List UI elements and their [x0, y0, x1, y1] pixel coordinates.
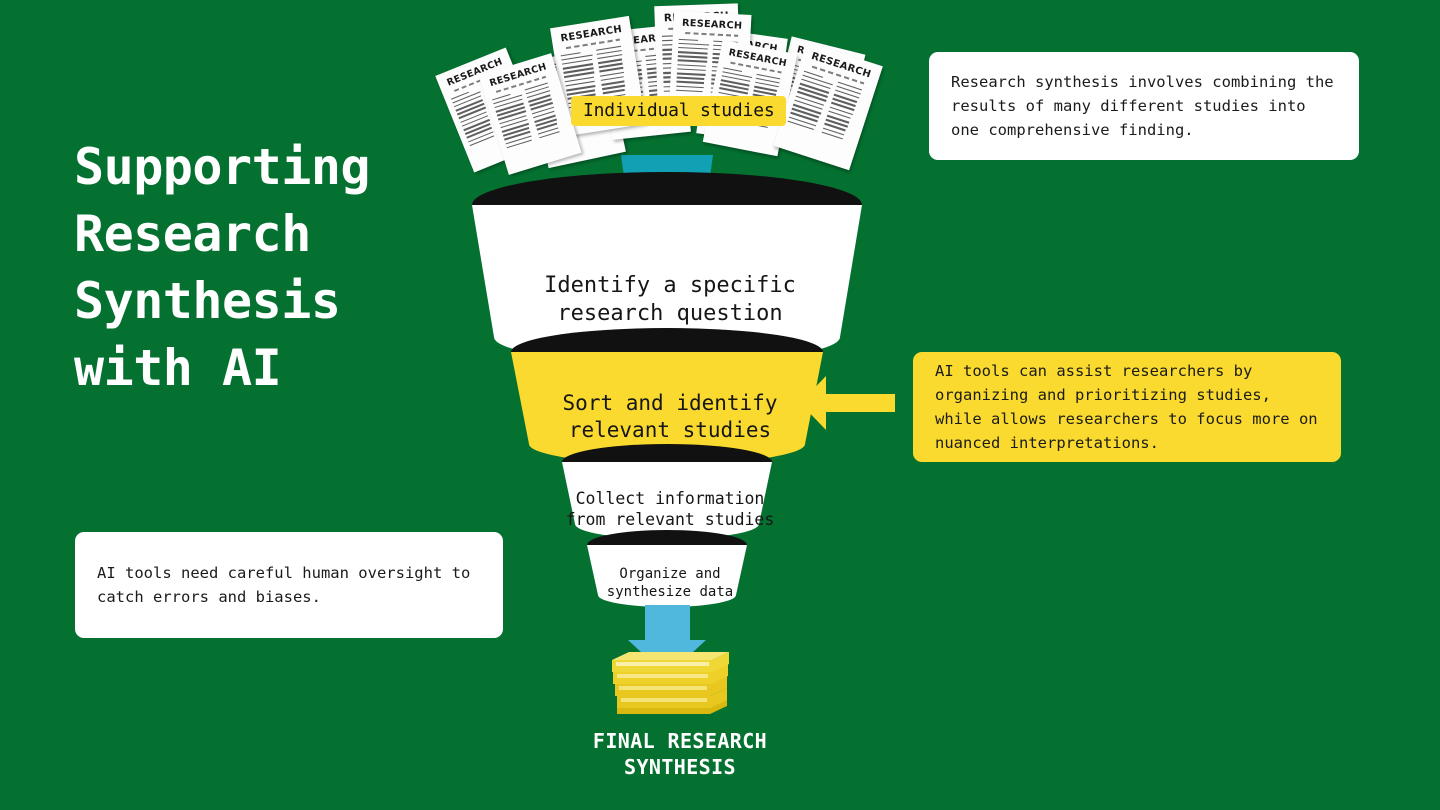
research-paper-text-line: [676, 81, 704, 84]
research-paper-column: [676, 38, 709, 95]
callout-ai-tools-assist: AI tools can assist researchers by organ…: [913, 352, 1341, 462]
callout-ai-oversight: AI tools need careful human oversight to…: [75, 532, 503, 638]
research-paper-text-line: [678, 43, 708, 46]
research-paper-text-line: [677, 77, 705, 80]
final-synthesis-label: FINAL RESEARCH SYNTHESIS: [520, 728, 840, 780]
callout-text: AI tools can assist researchers by organ…: [935, 359, 1319, 455]
callout-text: AI tools need careful human oversight to…: [97, 561, 481, 609]
funnel-tier-1-label: Identify a specific research question: [520, 272, 820, 328]
research-paper-text-line: [676, 85, 703, 88]
callout-text: Research synthesis involves combining th…: [951, 70, 1337, 142]
research-paper-text-line: [678, 47, 708, 50]
final-synthesis-books: [612, 652, 729, 714]
research-paper-text-line: [679, 38, 698, 41]
research-paper-text-line: [678, 55, 707, 58]
research-paper-text-line: [677, 72, 705, 75]
research-paper-text-line: [676, 90, 703, 93]
research-paper-heading: RESEARCH: [679, 18, 745, 31]
research-paper-text-line: [677, 64, 706, 67]
funnel-tier-2-label: Sort and identify relevant studies: [530, 390, 810, 444]
research-paper-text-line: [678, 51, 708, 54]
funnel-tier-3-label: Collect information from relevant studie…: [562, 488, 778, 530]
research-paper-text-line: [677, 68, 705, 71]
individual-studies-badge: Individual studies: [571, 96, 786, 126]
funnel-tier-4-label: Organize and synthesize data: [580, 566, 760, 602]
infographic-canvas: Supporting Research Synthesis with AI RE…: [0, 0, 1440, 810]
research-paper-subtitle-rule: [686, 32, 738, 37]
research-paper-body: [492, 80, 569, 151]
research-paper-text-line: [678, 60, 707, 63]
callout-research-synthesis-definition: Research synthesis involves combining th…: [929, 52, 1359, 160]
